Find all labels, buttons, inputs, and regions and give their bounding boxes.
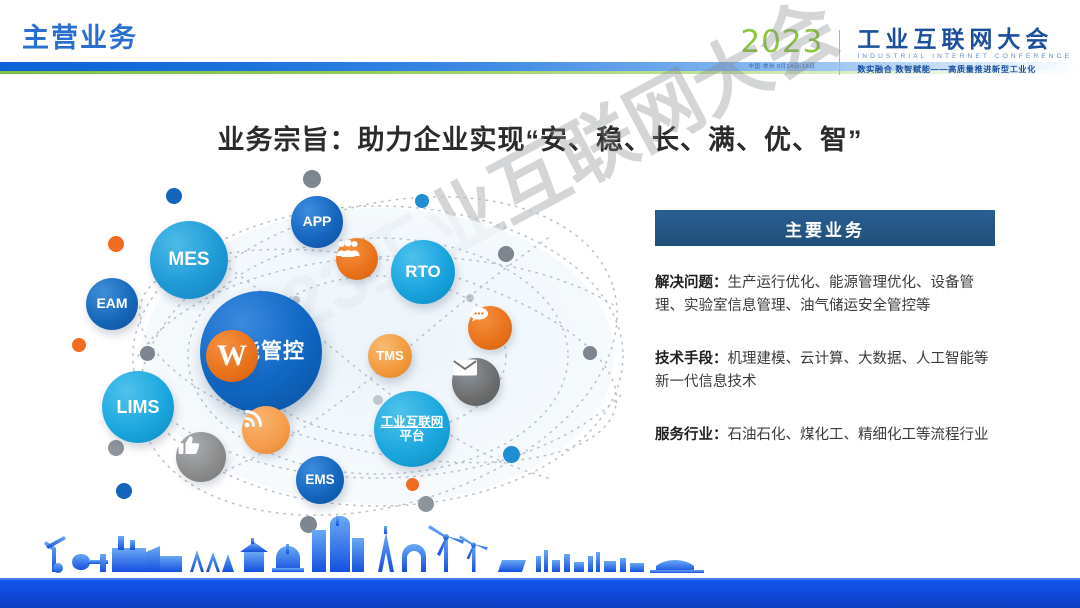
dot-gray-lowleft bbox=[108, 440, 124, 456]
dot-blue-topleft bbox=[166, 188, 182, 204]
dot-blue-lowright bbox=[503, 446, 520, 463]
bubble-rto-label: RTO bbox=[405, 262, 441, 281]
wordpress-w-icon[interactable]: W bbox=[206, 330, 258, 382]
bubble-tms-label: TMS bbox=[376, 349, 403, 364]
bubble-eam[interactable]: EAM bbox=[86, 278, 138, 330]
dot-blue-topright bbox=[415, 194, 429, 208]
panel-item-problem: 解决问题：生产运行优化、能源管理优化、设备管理、实验室信息管理、油气储运安全管控… bbox=[655, 272, 995, 319]
logo-slogan: 数实融合 数智赋能——高质量推进新型工业化 bbox=[857, 63, 1072, 75]
thumbs-up-icon[interactable] bbox=[176, 432, 226, 482]
envelope-icon[interactable] bbox=[452, 358, 500, 406]
rss-feed-icon[interactable] bbox=[242, 406, 290, 454]
bubble-industrial-internet-platform[interactable]: 工业互联网 平台 bbox=[374, 391, 450, 467]
dot-gray-right bbox=[583, 346, 597, 360]
wordpress-w-glyph: W bbox=[217, 341, 247, 371]
logo-year-block: 2023 中国·常州 8月14日-18日 bbox=[740, 27, 831, 70]
dot-gray-midleft bbox=[140, 346, 155, 361]
bubble-lims-label: LIMS bbox=[117, 397, 160, 417]
panel-item-industry-text: 石油石化、煤化工、精细化工等流程行业 bbox=[728, 427, 989, 443]
bubble-mes[interactable]: MES bbox=[150, 221, 228, 299]
rss-feed-glyph bbox=[242, 406, 266, 430]
dot-orange-left bbox=[108, 236, 124, 252]
logo-divider bbox=[839, 30, 840, 75]
thumbs-up-glyph bbox=[176, 432, 202, 456]
panel-header: 主要业务 bbox=[655, 210, 995, 246]
logo-year-subtitle: 中国·常州 8月14日-18日 bbox=[740, 62, 823, 70]
bubble-tms[interactable]: TMS bbox=[368, 334, 412, 378]
chat-bubble-glyph bbox=[468, 306, 493, 326]
main-heading: 业务宗旨：助力企业实现“安、稳、长、满、优、智” bbox=[0, 118, 1080, 157]
bubble-network-diagram: MES EAM LIMS APP RTO TMS EMS 工业互联网 平台 [d… bbox=[78, 178, 678, 534]
dot-gray-upperright bbox=[498, 246, 514, 262]
panel-item-technology-label: 技术手段： bbox=[655, 351, 728, 367]
logo-year: 2023 bbox=[740, 27, 823, 58]
dot-blue-lowleft bbox=[116, 483, 132, 499]
bubble-rto[interactable]: RTO bbox=[391, 240, 455, 304]
bubble-ems-label: EMS bbox=[305, 472, 334, 487]
page-title: 主营业务 bbox=[22, 16, 138, 55]
envelope-glyph bbox=[452, 358, 478, 377]
dot-gray-top bbox=[303, 170, 321, 188]
dot-orange-edge bbox=[72, 338, 86, 352]
group-people-glyph bbox=[336, 238, 360, 258]
panel-body: 解决问题：生产运行优化、能源管理优化、设备管理、实验室信息管理、油气储运安全管控… bbox=[655, 272, 995, 447]
footer-band bbox=[0, 578, 1080, 608]
bubble-app-label: APP bbox=[303, 214, 332, 230]
panel-item-industry-label: 服务行业： bbox=[655, 427, 728, 443]
group-people-icon[interactable] bbox=[336, 238, 378, 280]
bubble-eam-label: EAM bbox=[96, 296, 127, 312]
logo-text-block: 工业互联网大会 INDUSTRIAL INTERNET CONFERENCE 数… bbox=[848, 27, 1072, 75]
panel-item-technology: 技术手段：机理建模、云计算、大数据、人工智能等新一代信息技术 bbox=[655, 348, 995, 395]
dot-orange-bottom bbox=[406, 478, 419, 491]
bubble-platform-label-line2: 平台 bbox=[399, 429, 424, 443]
logo-name-en: INDUSTRIAL INTERNET CONFERENCE bbox=[857, 53, 1072, 60]
bubble-lims[interactable]: LIMS bbox=[102, 371, 174, 443]
panel-item-problem-label: 解决问题： bbox=[655, 275, 728, 291]
main-business-panel: 主要业务 解决问题：生产运行优化、能源管理优化、设备管理、实验室信息管理、油气储… bbox=[655, 210, 995, 447]
conference-logo: 2023 中国·常州 8月14日-18日 工业互联网大会 INDUSTRIAL … bbox=[740, 27, 1072, 75]
logo-name-cn: 工业互联网大会 bbox=[857, 27, 1072, 51]
slide-root: 主营业务 2023 中国·常州 8月14日-18日 工业互联网大会 INDUST… bbox=[0, 0, 1080, 608]
bubble-mes-label: MES bbox=[168, 249, 209, 270]
footer-skyline-illustration bbox=[0, 516, 1080, 578]
dot-gray-bottomright bbox=[418, 496, 434, 512]
chat-bubble-icon[interactable] bbox=[468, 306, 512, 350]
bubble-ems[interactable]: EMS bbox=[296, 456, 344, 504]
bubble-platform-label-line1: 工业互联网 bbox=[381, 415, 444, 429]
panel-item-industry: 服务行业：石油石化、煤化工、精细化工等流程行业 bbox=[655, 424, 995, 447]
